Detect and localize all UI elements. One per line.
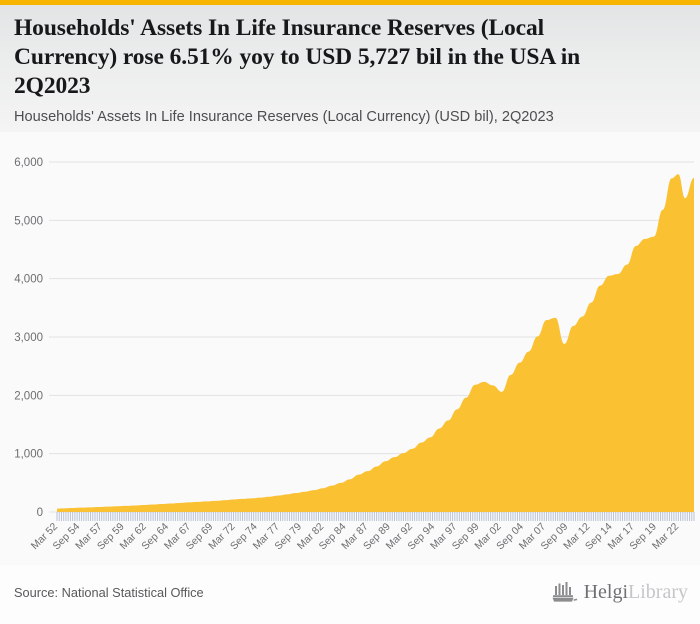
y-axis-tick-label: 1,000 (14, 449, 43, 461)
chart-header: Households' Assets In Life Insurance Res… (0, 5, 700, 132)
chart-plot-area[interactable]: 01,0002,0003,0004,0005,0006,000 Mar 52Se… (0, 132, 700, 565)
title-line-2: Currency) rose 6.51% yoy to USD 5,727 bi… (14, 43, 686, 72)
chart-subtitle: Households' Assets In Life Insurance Res… (14, 108, 686, 126)
chart-footer: Source: National Statistical Office Helg… (0, 565, 700, 624)
brand-name-secondary: Library (628, 581, 688, 603)
chart-page: Households' Assets In Life Insurance Res… (0, 0, 700, 624)
title-line-1: Households' Assets In Life Insurance Res… (14, 14, 686, 43)
y-axis-tick-label: 6,000 (14, 157, 43, 169)
brand-wordmark: HelgiLibrary (584, 582, 688, 602)
y-axis-tick-label: 3,000 (14, 332, 43, 344)
y-axis-tick-label: 5,000 (14, 215, 43, 227)
title-line-3: 2Q2023 (14, 72, 686, 101)
y-axis-tick-label: 2,000 (14, 390, 43, 402)
source-note: Source: National Statistical Office (14, 585, 204, 600)
y-axis-tick-label: 0 (37, 507, 43, 519)
area-chart-svg[interactable]: 01,0002,0003,0004,0005,0006,000 Mar 52Se… (0, 132, 700, 565)
library-building-icon (552, 581, 578, 603)
brand-logo[interactable]: HelgiLibrary (552, 579, 688, 605)
page-title: Households' Assets In Life Insurance Res… (14, 14, 686, 101)
y-axis-tick-label: 4,000 (14, 274, 43, 286)
brand-name-primary: Helgi (584, 581, 628, 603)
